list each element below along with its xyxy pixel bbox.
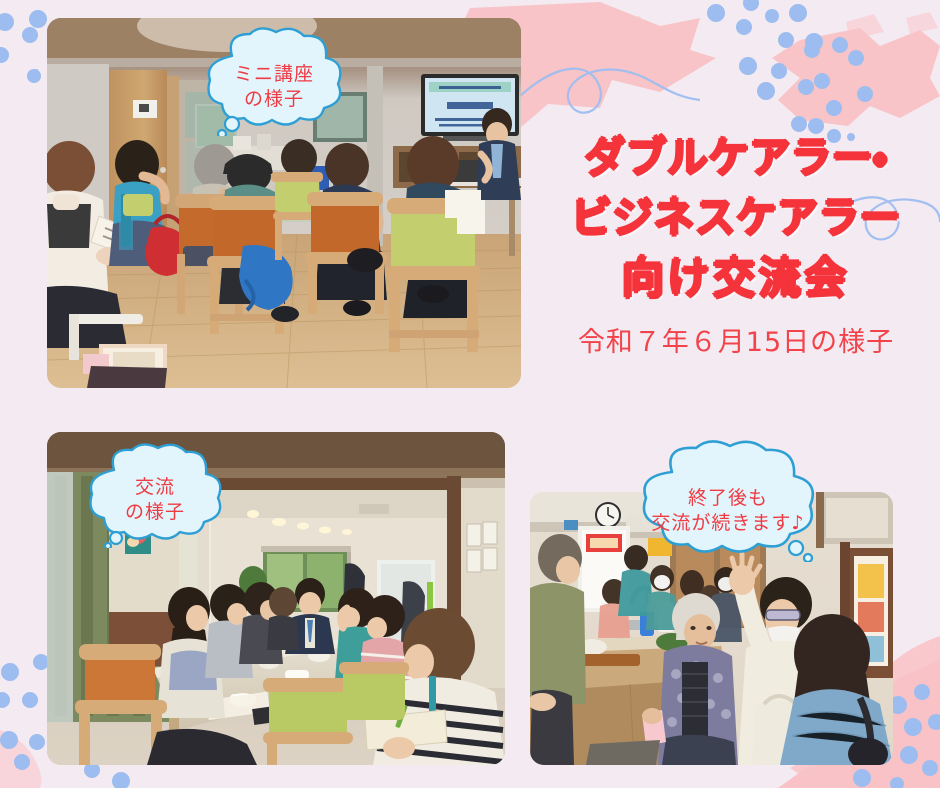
photo-seminar bbox=[47, 18, 521, 388]
brush-blob-bottom-left bbox=[0, 730, 41, 788]
dot-cluster-top-left bbox=[0, 10, 52, 100]
title-line-3: 向け交流会 bbox=[546, 249, 926, 311]
photo-kitchen bbox=[530, 492, 893, 765]
title-line-2: ビジネスケアラー bbox=[546, 188, 926, 248]
event-date-subtitle: 令和７年６月15日の様子 bbox=[540, 320, 932, 359]
photo-table bbox=[47, 432, 505, 765]
poster-canvas: ダブルケアラー・ ビジネスケアラー 向け交流会 令和７年６月15日の様子 ミニ講… bbox=[0, 0, 940, 788]
title-block: ダブルケアラー・ ビジネスケアラー 向け交流会 令和７年６月15日の様子 bbox=[540, 128, 932, 359]
dot-cluster-top-right bbox=[707, 0, 873, 143]
title-line-1: ダブルケアラー・ bbox=[546, 128, 926, 188]
brush-stroke-top-right bbox=[772, 12, 940, 126]
